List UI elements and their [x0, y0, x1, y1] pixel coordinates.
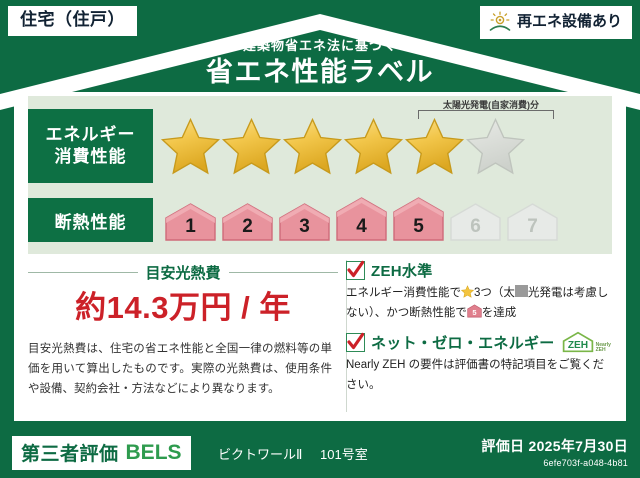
insulation-level-4: 4 — [334, 196, 389, 244]
checkbox-checked-icon — [346, 261, 365, 280]
zeh-sub-line2: ZEH — [596, 347, 606, 353]
label-footer: 第三者評価 BELS ビクトワールⅡ 101号室 評価日 2025年7月30日 … — [0, 428, 640, 478]
zeh-badge-sublabel: Nearly ZEH — [596, 343, 611, 354]
star-filled-icon — [159, 116, 222, 176]
insulation-level-number: 5 — [391, 216, 446, 238]
net-zero-energy-body: Nearly ZEH の要件は評価書の特記項目をご覧ください。 — [346, 356, 612, 395]
insulation-level-number: 2 — [220, 216, 275, 238]
star-filled-icon — [342, 116, 405, 176]
inline-house-level-icon: 5 — [467, 304, 482, 317]
renewable-energy-badge: 再エネ設備あり — [480, 6, 632, 39]
energy-row-label: エネルギー 消費性能 — [28, 109, 153, 183]
insulation-performance-row: 断熱性能 1234567 — [28, 196, 562, 244]
net-zero-energy-item: ネット・ゼロ・エネルギー ZEH Nearly ZEH — [346, 331, 612, 395]
zeh-standard-body: エネルギー消費性能で 3つ（太光発電は考慮しない）、かつ断熱性能で 5 を達成 — [346, 284, 612, 323]
heading-rule-left — [28, 272, 138, 273]
zeh-body-part-a: エネルギー消費性能で — [346, 287, 461, 299]
insulation-level-number: 4 — [334, 216, 389, 238]
utility-cost-heading-text: 目安光熱費 — [138, 262, 229, 283]
utility-cost-heading: 目安光熱費 — [28, 262, 338, 283]
evaluation-info: 評価日 2025年7月30日 6efe703f-a048-4b81 — [481, 436, 628, 468]
energy-star-rating — [159, 116, 525, 176]
insulation-level-2: 2 — [220, 196, 275, 244]
title-subtitle: 建築物省エネ法に基づく — [0, 38, 640, 54]
energy-row-label-line2: 消費性能 — [55, 146, 127, 168]
zeh-logo-icon: ZEH Nearly ZEH — [561, 331, 611, 353]
energy-performance-label: 住宅（住戸） 再エネ設備あり 建築物省エネ法に基づく 省エネ性能ラベル — [0, 0, 640, 478]
insulation-level-3: 3 — [277, 196, 332, 244]
redaction-box — [515, 285, 528, 297]
performance-panel: 太陽光発電(自家消費)分 エネルギー 消費性能 断熱性能 1234567 — [28, 96, 612, 254]
utility-cost-section: 目安光熱費 約14.3万円 / 年 目安光熱費は、住宅の省エネ性能と全国一律の燃… — [28, 258, 338, 416]
label-card: 太陽光発電(自家消費)分 エネルギー 消費性能 断熱性能 1234567 — [14, 92, 626, 421]
insulation-level-6: 6 — [448, 196, 503, 244]
insulation-level-scale: 1234567 — [163, 196, 562, 244]
star-filled-icon — [220, 116, 283, 176]
zeh-body-part-star: 3つ（太 — [474, 287, 515, 299]
energy-row-label-line1: エネルギー — [46, 124, 136, 146]
net-zero-energy-header: ネット・ゼロ・エネルギー ZEH Nearly ZEH — [346, 331, 612, 353]
utility-cost-note: 目安光熱費は、住宅の省エネ性能と全国一律の燃料等の単価を用いて算出したものです。… — [28, 339, 338, 399]
svg-text:ZEH: ZEH — [567, 340, 587, 351]
energy-performance-row: エネルギー 消費性能 — [28, 109, 525, 183]
svg-text:5: 5 — [472, 308, 476, 317]
star-filled-icon — [403, 116, 466, 176]
inline-star-icon — [461, 285, 474, 298]
renewable-energy-label: 再エネ設備あり — [517, 14, 622, 31]
bels-logo: 第三者評価 BELS — [12, 436, 191, 470]
building-type-badge: 住宅（住戸） — [8, 6, 137, 36]
zeh-standard-title: ZEH水準 — [371, 260, 433, 281]
label-title: 建築物省エネ法に基づく 省エネ性能ラベル — [0, 38, 640, 88]
star-empty-icon — [464, 116, 527, 176]
heading-rule-right — [229, 272, 339, 273]
building-name: ビクトワールⅡ — [218, 447, 302, 462]
label-lower-section: 目安光熱費 約14.3万円 / 年 目安光熱費は、住宅の省エネ性能と全国一律の燃… — [28, 258, 612, 416]
evaluation-id: 6efe703f-a048-4b81 — [481, 458, 628, 468]
zeh-standard-header: ZEH水準 — [346, 260, 612, 281]
insulation-level-number: 1 — [163, 216, 218, 238]
bels-logo-ja: 第三者評価 — [21, 439, 119, 466]
room-number: 101号室 — [320, 447, 368, 462]
insulation-level-1: 1 — [163, 196, 218, 244]
building-info: ビクトワールⅡ 101号室 — [218, 444, 368, 463]
evaluation-date: 評価日 2025年7月30日 — [481, 436, 628, 456]
utility-cost-value: 約14.3万円 / 年 — [28, 291, 338, 325]
insulation-level-number: 7 — [505, 216, 560, 238]
insulation-level-number: 6 — [448, 216, 503, 238]
insulation-row-label-text: 断熱性能 — [55, 208, 127, 233]
sun-renewable-icon — [488, 10, 512, 34]
bels-logo-en: BELS — [126, 441, 182, 465]
zeh-standard-item: ZEH水準 エネルギー消費性能で 3つ（太光発電は考慮しない）、かつ断熱性能で … — [346, 260, 612, 323]
insulation-level-5: 5 — [391, 196, 446, 244]
zeh-body-part-c: を達成 — [482, 307, 517, 319]
title-main: 省エネ性能ラベル — [0, 57, 640, 88]
insulation-row-label: 断熱性能 — [28, 198, 153, 242]
insulation-level-number: 3 — [277, 216, 332, 238]
star-filled-icon — [281, 116, 344, 176]
certification-section: ZEH水準 エネルギー消費性能で 3つ（太光発電は考慮しない）、かつ断熱性能で … — [338, 258, 612, 416]
checkbox-checked-icon — [346, 333, 365, 352]
insulation-level-7: 7 — [505, 196, 560, 244]
net-zero-energy-title: ネット・ゼロ・エネルギー — [371, 332, 555, 353]
